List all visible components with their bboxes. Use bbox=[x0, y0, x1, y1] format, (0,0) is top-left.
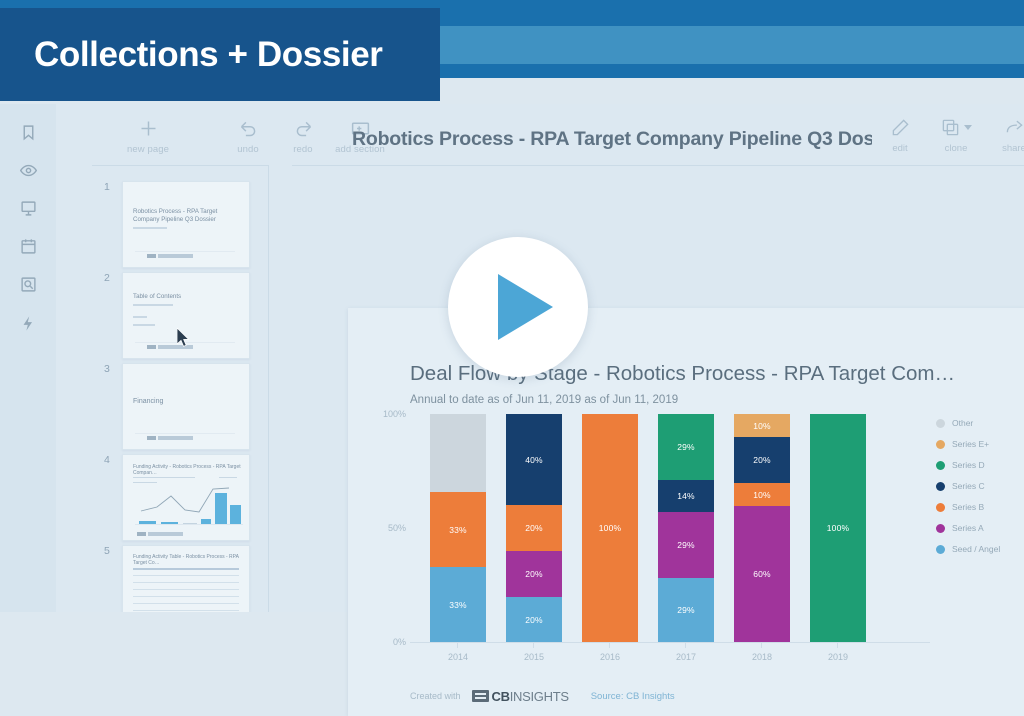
cb-logo-cb-text: CB bbox=[492, 689, 510, 704]
chart-footer: Created with CB INSIGHTS Source: CB Insi… bbox=[410, 688, 675, 704]
undo-icon bbox=[238, 117, 259, 139]
bookmark-icon[interactable] bbox=[14, 118, 42, 146]
document-search-icon[interactable] bbox=[14, 270, 42, 298]
x-axis-tick: 2016 bbox=[582, 652, 638, 662]
y-axis-tick: 50% bbox=[388, 523, 406, 533]
toolbar-divider-right bbox=[292, 165, 1024, 166]
lightning-icon[interactable] bbox=[14, 309, 42, 337]
bar-segment-series-a: 29% bbox=[658, 512, 714, 578]
page-thumbnail-panel[interactable]: 1 Robotics Process - RPA Target Company … bbox=[56, 165, 268, 612]
clone-icon bbox=[941, 117, 972, 139]
x-axis-line bbox=[410, 642, 930, 643]
created-with-label: Created with bbox=[410, 691, 461, 701]
bar-segment-series-c: 20% bbox=[734, 437, 790, 483]
banner-title-card: Collections + Dossier bbox=[0, 8, 440, 101]
chart-subtitle: Annual to date as of Jun 11, 2019 as of … bbox=[410, 394, 678, 406]
bar-segment-series-a: 60% bbox=[734, 506, 790, 642]
legend-color-swatch bbox=[936, 503, 945, 512]
bar-2015[interactable]: 40% 20% 20% 20% bbox=[506, 414, 562, 642]
cb-logo-mark-icon bbox=[472, 690, 489, 702]
thumbnail-card[interactable]: Funding Activity Table - Robotics Proces… bbox=[122, 545, 250, 612]
panel-divider bbox=[268, 165, 269, 612]
legend-item[interactable]: Series B bbox=[936, 500, 984, 514]
legend-color-swatch bbox=[936, 461, 945, 470]
bar-2017[interactable]: 29% 14% 29% 29% bbox=[658, 414, 714, 642]
x-axis-tick: 2014 bbox=[430, 652, 486, 662]
share-label: share bbox=[1002, 143, 1024, 154]
x-axis-tick: 2015 bbox=[506, 652, 562, 662]
eye-icon[interactable] bbox=[14, 156, 42, 184]
thumbnail-card[interactable]: Funding Activity - Robotics Process - RP… bbox=[122, 454, 250, 541]
play-triangle-icon bbox=[498, 274, 553, 340]
thumbnail-number: 1 bbox=[104, 181, 110, 193]
bar-segment-series-b: 10% bbox=[734, 483, 790, 506]
slide-canvas[interactable]: Deal Flow by Stage - Robotics Process - … bbox=[348, 308, 1024, 716]
thumbnail-title: Funding Activity Table - Robotics Proces… bbox=[133, 554, 241, 566]
x-axis-tick: 2019 bbox=[810, 652, 866, 662]
x-axis-tick: 2017 bbox=[658, 652, 714, 662]
thumbnail-number: 4 bbox=[104, 454, 110, 466]
banner-title: Collections + Dossier bbox=[0, 35, 383, 75]
y-axis-tick: 0% bbox=[393, 637, 406, 647]
undo-label: undo bbox=[237, 144, 259, 155]
new-page-button[interactable]: new page bbox=[116, 114, 180, 158]
thumbnail-card[interactable]: Financing bbox=[122, 363, 250, 450]
page-title: Robotics Process - RPA Target Company Pi… bbox=[352, 128, 872, 151]
thumbnail-card[interactable]: Robotics Process - RPA Target Company Pi… bbox=[122, 181, 250, 268]
legend-item[interactable]: Series A bbox=[936, 521, 984, 535]
legend-label: Seed / Angel bbox=[952, 544, 1000, 554]
new-page-label: new page bbox=[127, 144, 169, 155]
thumbnail-title: Financing bbox=[133, 398, 241, 406]
redo-label: redo bbox=[293, 144, 312, 155]
thumbnail-mini-line bbox=[137, 485, 243, 519]
thumbnail-number: 3 bbox=[104, 363, 110, 375]
edit-button[interactable]: edit bbox=[872, 112, 928, 158]
legend-color-swatch bbox=[936, 545, 945, 554]
legend-label: Other bbox=[952, 418, 973, 428]
chart-plot-area: 100% 50% 0% 33% 33% 2014 40% 20% 20% 20% bbox=[410, 414, 910, 642]
plus-icon bbox=[138, 117, 159, 139]
bar-segment-seed-angel: 29% bbox=[658, 578, 714, 642]
source-link[interactable]: Source: CB Insights bbox=[591, 691, 675, 702]
thumbnail-title: Robotics Process - RPA Target Company Pi… bbox=[133, 208, 241, 224]
legend-item[interactable]: Seed / Angel bbox=[936, 542, 1000, 556]
thumbnail-title: Funding Activity - Robotics Process - RP… bbox=[133, 464, 241, 476]
legend-color-swatch bbox=[936, 440, 945, 449]
legend-item[interactable]: Other bbox=[936, 416, 973, 430]
bar-segment-series-e-plus: 10% bbox=[734, 414, 790, 437]
thumbnail-number: 5 bbox=[104, 545, 110, 557]
cb-logo-insights-text: INSIGHTS bbox=[510, 689, 569, 704]
pencil-icon bbox=[891, 117, 910, 139]
bar-segment-series-b: 20% bbox=[506, 505, 562, 551]
bar-segment-series-d: 100% bbox=[810, 414, 866, 642]
bar-segment-series-c: 14% bbox=[658, 480, 714, 512]
bar-segment-series-b: 100% bbox=[582, 414, 638, 642]
bar-segment-series-c: 40% bbox=[506, 414, 562, 505]
thumbnail-number: 2 bbox=[104, 272, 110, 284]
legend-label: Series B bbox=[952, 502, 984, 512]
mouse-cursor bbox=[177, 328, 191, 348]
legend-label: Series D bbox=[952, 460, 985, 470]
calendar-icon[interactable] bbox=[14, 232, 42, 260]
share-button[interactable]: share bbox=[986, 112, 1024, 158]
bar-2018[interactable]: 10% 20% 10% 60% bbox=[734, 414, 790, 642]
x-axis-tick: 2018 bbox=[734, 652, 790, 662]
legend-color-swatch bbox=[936, 482, 945, 491]
bar-2016[interactable]: 100% bbox=[582, 414, 638, 642]
thumbnail-title: Table of Contents bbox=[133, 293, 241, 301]
play-video-button[interactable] bbox=[448, 237, 588, 377]
clone-button[interactable]: clone bbox=[928, 112, 984, 158]
chevron-down-icon bbox=[964, 125, 972, 130]
bar-segment-series-d: 29% bbox=[658, 414, 714, 480]
bar-segment-other bbox=[430, 414, 486, 492]
y-axis-tick: 100% bbox=[383, 409, 406, 419]
legend-label: Series A bbox=[952, 523, 984, 533]
bar-2019[interactable]: 100% bbox=[810, 414, 866, 642]
bar-segment-series-a: 20% bbox=[506, 551, 562, 597]
redo-button[interactable]: redo bbox=[271, 114, 335, 158]
left-icon-rail bbox=[0, 104, 56, 612]
redo-icon bbox=[293, 117, 314, 139]
clone-label: clone bbox=[945, 143, 968, 154]
share-icon bbox=[1005, 117, 1024, 139]
top-banner: Collections + Dossier bbox=[0, 0, 1024, 104]
bar-segment-seed-angel: 33% bbox=[430, 567, 486, 642]
bar-segment-seed-angel: 20% bbox=[506, 597, 562, 642]
legend-color-swatch bbox=[936, 419, 945, 428]
legend-label: Series C bbox=[952, 481, 985, 491]
legend-item[interactable]: Series D bbox=[936, 458, 985, 472]
cb-insights-logo: CB INSIGHTS bbox=[472, 689, 569, 704]
legend-item[interactable]: Series C bbox=[936, 479, 985, 493]
legend-label: Series E+ bbox=[952, 439, 989, 449]
toolbar: new page undo redo add section bbox=[56, 104, 1024, 164]
legend-color-swatch bbox=[936, 524, 945, 533]
legend-item[interactable]: Series E+ bbox=[936, 437, 989, 451]
application-window: Collections + Dossier bbox=[0, 0, 1024, 612]
bar-2014[interactable]: 33% 33% bbox=[430, 414, 486, 642]
bar-segment-series-b: 33% bbox=[430, 492, 486, 567]
edit-label: edit bbox=[892, 143, 907, 154]
presentation-icon[interactable] bbox=[14, 194, 42, 222]
